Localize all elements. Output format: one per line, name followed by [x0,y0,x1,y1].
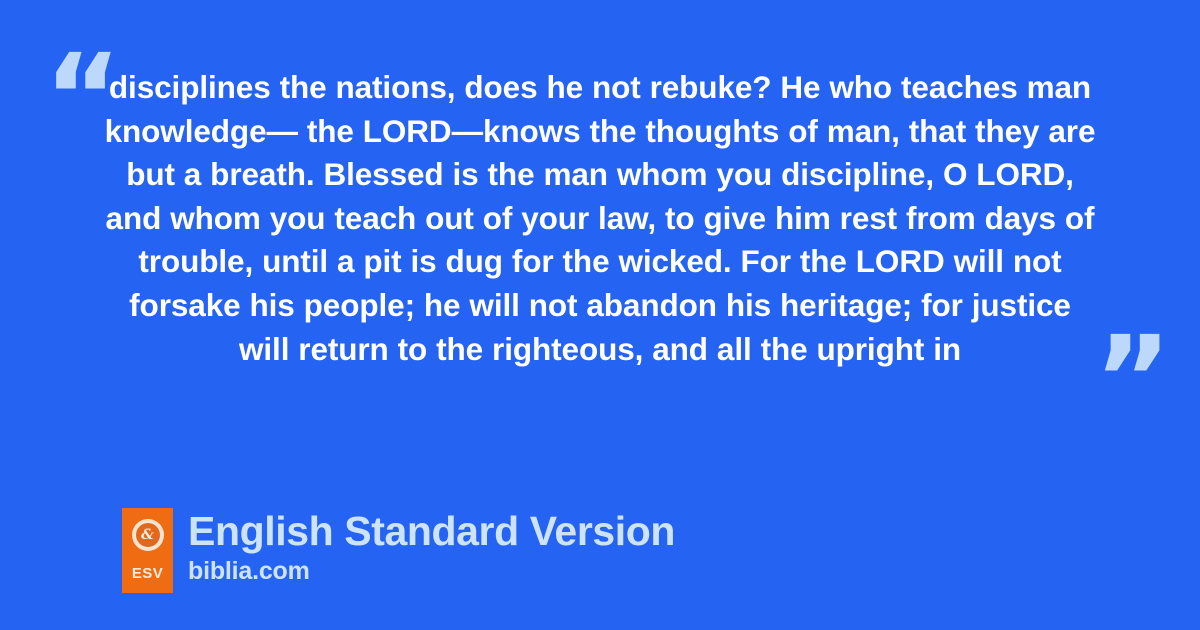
close-quote-icon: ” [1094,320,1170,438]
bible-version-name: English Standard Version [188,508,675,555]
esv-seal-monogram: & [141,528,154,542]
verse-text: disciplines the nations, does he not reb… [104,66,1096,371]
esv-logo: & ESV [122,508,173,593]
site-name: biblia.com [188,557,675,586]
verse-block: disciplines the nations, does he not reb… [104,66,1096,371]
esv-seal-icon: & [132,519,164,551]
verse-image-card: “ disciplines the nations, does he not r… [0,0,1200,630]
attribution: & ESV English Standard Version biblia.co… [122,508,675,593]
attribution-text: English Standard Version biblia.com [188,508,675,586]
esv-logo-label: ESV [132,566,163,581]
